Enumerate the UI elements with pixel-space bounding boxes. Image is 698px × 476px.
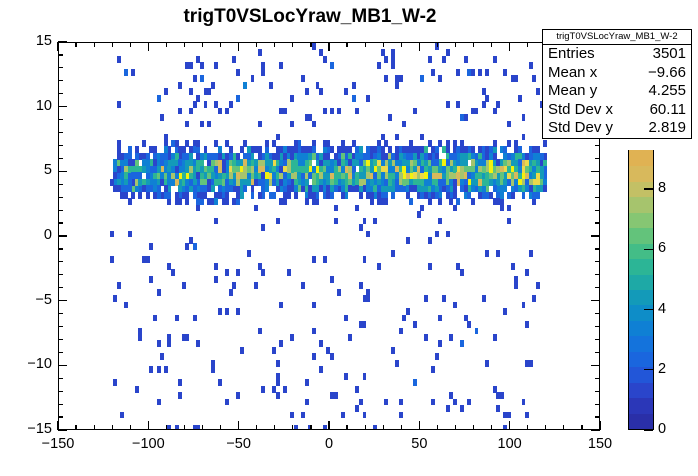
histogram-cell	[334, 218, 338, 225]
palette-band	[629, 165, 653, 182]
histogram-cell	[157, 340, 161, 347]
palette-band	[629, 289, 653, 306]
histogram-cell	[290, 95, 294, 102]
histogram-cell	[189, 166, 193, 173]
stats-box-title: trigT0VSLocYraw_MB1_W-2	[543, 30, 691, 45]
y-axis-major-tick	[58, 300, 67, 301]
histogram-cell	[247, 153, 251, 160]
histogram-cell	[138, 334, 142, 341]
histogram-cell	[146, 166, 150, 173]
y-axis-right-tick	[595, 197, 600, 198]
histogram-cell	[514, 282, 518, 289]
y-axis-major-tick	[58, 429, 67, 430]
x-axis-major-tick	[148, 421, 149, 430]
y-axis-minor-tick	[58, 378, 63, 379]
histogram-cell	[229, 101, 233, 108]
histogram-cell	[175, 192, 179, 199]
histogram-cell	[301, 166, 305, 173]
histogram-cell	[261, 386, 265, 393]
histogram-cell	[334, 153, 338, 160]
histogram-cell	[438, 179, 442, 186]
histogram-cell	[120, 172, 124, 179]
y-axis-minor-tick	[58, 313, 63, 314]
stats-rows: Entries3501Mean x−9.66Mean y4.255Std Dev…	[543, 45, 691, 138]
histogram-cell	[475, 153, 479, 160]
histogram-cell	[312, 146, 316, 153]
histogram-cell	[355, 159, 359, 166]
histogram-cell	[507, 412, 511, 419]
histogram-cell	[503, 153, 507, 160]
x-axis-top-tick	[401, 42, 402, 47]
histogram-cell	[446, 101, 450, 108]
plot-frame	[58, 42, 600, 430]
histogram-cell	[438, 218, 442, 225]
histogram-cell	[149, 276, 153, 283]
histogram-cell	[153, 166, 157, 173]
histogram-cell	[323, 140, 327, 147]
histogram-cell	[196, 425, 200, 429]
histogram-cell	[128, 185, 132, 192]
histogram-cell	[352, 95, 356, 102]
histogram-cell	[290, 166, 294, 173]
histogram-cell	[391, 250, 395, 257]
histogram-cell	[157, 366, 161, 373]
histogram-cell	[276, 218, 280, 225]
y-axis-minor-tick	[58, 391, 63, 392]
histogram-cell	[431, 399, 435, 406]
histogram-cell	[543, 153, 547, 160]
histogram-cell	[475, 328, 479, 335]
histogram-cell	[395, 75, 399, 82]
histogram-cell	[518, 146, 522, 153]
palette-band	[629, 243, 653, 260]
histogram-cell	[330, 353, 334, 360]
histogram-cell	[160, 192, 164, 199]
histogram-cell	[366, 95, 370, 102]
histogram-cell	[265, 185, 269, 192]
histogram-cell	[287, 166, 291, 173]
histogram-cell	[522, 114, 526, 121]
x-axis-minor-tick	[383, 425, 384, 430]
histogram-cell	[175, 198, 179, 205]
histogram-cell	[485, 69, 489, 76]
histogram-cell	[456, 172, 460, 179]
histogram-cell	[200, 121, 204, 128]
histogram-cell	[500, 392, 504, 399]
histogram-cell	[540, 166, 544, 173]
root-canvas: trigT0VSLocYraw_MB1_W-2 −150−100−5005010…	[0, 0, 698, 476]
y-axis-right-tick	[591, 235, 600, 236]
histogram-cell	[485, 95, 489, 102]
histogram-cell	[193, 425, 197, 429]
stats-row: Std Dev x60.11	[543, 101, 691, 120]
histogram-cell	[402, 179, 406, 186]
histogram-cell	[146, 256, 150, 263]
histogram-cell	[399, 75, 403, 82]
histogram-cell	[482, 101, 486, 108]
histogram-cell	[532, 153, 536, 160]
histogram-cell	[138, 172, 142, 179]
histogram-cell	[319, 49, 323, 56]
histogram-cell	[283, 192, 287, 199]
x-axis-top-tick	[274, 42, 275, 47]
histogram-cell	[395, 153, 399, 160]
histogram-cell	[384, 56, 388, 63]
histogram-cell	[420, 134, 424, 141]
y-axis-tick-label: −15	[12, 421, 52, 437]
histogram-cell	[464, 153, 468, 160]
y-axis-right-tick	[595, 391, 600, 392]
histogram-cell	[178, 392, 182, 399]
histogram-cell	[272, 179, 276, 186]
histogram-cell	[225, 192, 229, 199]
histogram-cell	[164, 185, 168, 192]
x-axis-top-tick	[328, 42, 329, 51]
histogram-cell	[305, 399, 309, 406]
histogram-cell	[543, 185, 547, 192]
histogram-cell	[207, 159, 211, 166]
histogram-cell	[261, 192, 265, 199]
histogram-cell	[446, 185, 450, 192]
histogram-cell	[120, 153, 124, 160]
x-axis-tick-label: −150	[28, 436, 88, 452]
histogram-cell	[395, 82, 399, 89]
histogram-cell	[149, 243, 153, 250]
histogram-cell	[485, 146, 489, 153]
histogram-cell	[370, 166, 374, 173]
y-axis-minor-tick	[58, 326, 63, 327]
histogram-cell	[442, 295, 446, 302]
histogram-cell	[251, 75, 255, 82]
histogram-cell	[529, 250, 533, 257]
histogram-cell	[522, 153, 526, 160]
histogram-cell	[428, 237, 432, 244]
y-axis-right-tick	[595, 352, 600, 353]
histogram-cell	[482, 179, 486, 186]
y-axis-minor-tick	[58, 248, 63, 249]
histogram-cell	[518, 159, 522, 166]
histogram-cell	[272, 347, 276, 354]
histogram-cell	[236, 308, 240, 315]
histogram-cell	[363, 185, 367, 192]
histogram-cell	[283, 198, 287, 205]
histogram-cell	[128, 159, 132, 166]
histogram-cell	[522, 302, 526, 309]
histogram-cell	[355, 405, 359, 412]
histogram-cell	[363, 373, 367, 380]
palette-tick-label: 6	[658, 240, 666, 256]
histogram-cell	[493, 185, 497, 192]
histogram-cell	[355, 153, 359, 160]
histogram-cell	[359, 224, 363, 231]
histogram-cell	[370, 179, 374, 186]
histogram-cell	[442, 166, 446, 173]
histogram-cell	[305, 146, 309, 153]
histogram-cell	[319, 340, 323, 347]
histogram-cell	[232, 179, 236, 186]
histogram-cell	[456, 69, 460, 76]
histogram-cell	[316, 153, 320, 160]
palette-band	[629, 258, 653, 275]
stats-row-value: 3501	[653, 45, 686, 64]
histogram-cell	[532, 75, 536, 82]
histogram-cell	[446, 159, 450, 166]
x-axis-top-tick	[509, 42, 510, 51]
histogram-cell	[128, 198, 132, 205]
histogram-cell	[363, 218, 367, 225]
histogram-cell	[514, 185, 518, 192]
histogram-cell	[435, 159, 439, 166]
histogram-cell	[308, 185, 312, 192]
histogram-cell	[232, 282, 236, 289]
histogram-cell	[178, 82, 182, 89]
histogram-cell	[214, 218, 218, 225]
histogram-cell	[514, 276, 518, 283]
histogram-cell	[211, 185, 215, 192]
histogram-cell	[391, 62, 395, 69]
histogram-cell	[316, 159, 320, 166]
histogram-cell	[493, 334, 497, 341]
histogram-cell	[406, 172, 410, 179]
histogram-cell	[384, 198, 388, 205]
histogram-cells	[59, 43, 599, 429]
histogram-cell	[229, 185, 233, 192]
histogram-cell	[182, 282, 186, 289]
histogram-cell	[503, 69, 507, 76]
histogram-cell	[373, 146, 377, 153]
histogram-cell	[453, 205, 457, 212]
histogram-cell	[258, 146, 262, 153]
stats-row-key: Mean x	[548, 64, 597, 83]
histogram-cell	[153, 146, 157, 153]
palette-tick-label: 2	[658, 361, 666, 377]
histogram-cell	[167, 192, 171, 199]
x-axis-minor-tick	[346, 425, 347, 430]
histogram-cell	[117, 185, 121, 192]
palette-tick	[644, 249, 653, 250]
histogram-cell	[464, 159, 468, 166]
x-axis-top-tick	[491, 42, 492, 47]
histogram-cell	[290, 334, 294, 341]
x-axis-minor-tick	[473, 425, 474, 430]
histogram-cell	[167, 185, 171, 192]
histogram-cell	[406, 166, 410, 173]
histogram-cell	[243, 185, 247, 192]
x-axis-top-tick	[455, 42, 456, 47]
histogram-cell	[218, 308, 222, 315]
histogram-cell	[261, 179, 265, 186]
histogram-cell	[319, 185, 323, 192]
histogram-cell	[522, 192, 526, 199]
histogram-cell	[323, 256, 327, 263]
histogram-cell	[225, 399, 229, 406]
x-axis-minor-tick	[292, 425, 293, 430]
histogram-cell	[366, 179, 370, 186]
histogram-cell	[171, 269, 175, 276]
histogram-cell	[337, 289, 341, 296]
y-axis-right-tick	[595, 158, 600, 159]
x-axis-minor-tick	[256, 425, 257, 430]
histogram-cell	[323, 153, 327, 160]
histogram-cell	[540, 153, 544, 160]
histogram-cell	[290, 412, 294, 419]
x-axis-top-tick	[527, 42, 528, 47]
histogram-cell	[258, 153, 262, 160]
y-axis-minor-tick	[58, 210, 63, 211]
y-axis-right-tick	[595, 222, 600, 223]
palette-band	[629, 320, 653, 337]
histogram-cell	[514, 140, 518, 147]
x-axis-top-tick	[112, 42, 113, 47]
histogram-cell	[366, 295, 370, 302]
histogram-cell	[355, 185, 359, 192]
histogram-cell	[211, 153, 215, 160]
histogram-cell	[355, 172, 359, 179]
histogram-cell	[149, 166, 153, 173]
histogram-cell	[330, 166, 334, 173]
histogram-cell	[316, 192, 320, 199]
histogram-cell	[261, 62, 265, 69]
histogram-cell	[312, 256, 316, 263]
histogram-cell	[261, 269, 265, 276]
histogram-cell	[446, 140, 450, 147]
histogram-cell	[435, 231, 439, 238]
histogram-cell	[428, 166, 432, 173]
histogram-cell	[467, 321, 471, 328]
histogram-cell	[496, 250, 500, 257]
y-axis-minor-tick	[58, 261, 63, 262]
histogram-cell	[185, 153, 189, 160]
histogram-cell	[529, 360, 533, 367]
histogram-cell	[446, 231, 450, 238]
histogram-cell	[131, 159, 135, 166]
histogram-cell	[124, 69, 128, 76]
histogram-cell	[334, 185, 338, 192]
histogram-cell	[417, 211, 421, 218]
histogram-cell	[442, 56, 446, 63]
histogram-cell	[272, 140, 276, 147]
histogram-cell	[160, 153, 164, 160]
y-axis-right-tick	[595, 378, 600, 379]
histogram-cell	[381, 198, 385, 205]
histogram-cell	[431, 69, 435, 76]
stats-row-value: 2.819	[648, 119, 686, 138]
histogram-cell	[117, 153, 121, 160]
x-axis-top-tick	[94, 42, 95, 47]
histogram-cell	[218, 108, 222, 115]
histogram-cell	[131, 192, 135, 199]
histogram-cell	[214, 62, 218, 69]
histogram-cell	[456, 101, 460, 108]
histogram-cell	[312, 166, 316, 173]
histogram-cell	[301, 282, 305, 289]
histogram-cell	[279, 340, 283, 347]
histogram-cell	[214, 166, 218, 173]
x-axis-minor-tick	[437, 425, 438, 430]
histogram-cell	[193, 185, 197, 192]
x-axis-tick-label: 150	[570, 436, 630, 452]
histogram-cell	[406, 153, 410, 160]
y-axis-right-tick	[591, 300, 600, 301]
histogram-cell	[279, 302, 283, 309]
histogram-cell	[200, 75, 204, 82]
y-axis-minor-tick	[58, 67, 63, 68]
histogram-cell	[189, 237, 193, 244]
histogram-cell	[175, 315, 179, 322]
histogram-cell	[189, 146, 193, 153]
histogram-cell	[167, 425, 171, 429]
histogram-cell	[355, 108, 359, 115]
histogram-cell	[460, 146, 464, 153]
palette-band	[629, 412, 653, 429]
histogram-cell	[377, 62, 381, 69]
histogram-cell	[276, 392, 280, 399]
histogram-cell	[236, 69, 240, 76]
histogram-cell	[229, 146, 233, 153]
y-axis-minor-tick	[58, 222, 63, 223]
histogram-cell	[424, 192, 428, 199]
histogram-cell	[193, 315, 197, 322]
histogram-cell	[312, 328, 316, 335]
x-axis-minor-tick	[166, 425, 167, 430]
histogram-cell	[373, 218, 377, 225]
histogram-cell	[207, 198, 211, 205]
histogram-cell	[283, 153, 287, 160]
histogram-cell	[294, 192, 298, 199]
histogram-cell	[334, 392, 338, 399]
histogram-cell	[409, 198, 413, 205]
stats-row: Mean y4.255	[543, 82, 691, 101]
histogram-cell	[384, 140, 388, 147]
histogram-cell	[366, 231, 370, 238]
histogram-cell	[406, 308, 410, 315]
y-axis-minor-tick	[58, 287, 63, 288]
palette-band	[629, 335, 653, 352]
histogram-cell	[225, 159, 229, 166]
histogram-cell	[391, 347, 395, 354]
histogram-cell	[149, 366, 153, 373]
histogram-cell	[399, 412, 403, 419]
histogram-cell	[146, 185, 150, 192]
y-axis-minor-tick	[58, 404, 63, 405]
histogram-cell	[196, 95, 200, 102]
x-axis-minor-tick	[401, 425, 402, 430]
histogram-cell	[178, 166, 182, 173]
histogram-cell	[316, 82, 320, 89]
x-axis-tick-label: −100	[118, 436, 178, 452]
histogram-cell	[153, 315, 157, 322]
histogram-cell	[189, 108, 193, 115]
histogram-cell	[453, 192, 457, 199]
histogram-cell	[312, 43, 316, 50]
x-axis-minor-tick	[75, 425, 76, 430]
histogram-cell	[500, 205, 504, 212]
x-axis-top-tick	[310, 42, 311, 47]
y-axis-major-tick	[58, 106, 67, 107]
histogram-cell	[485, 172, 489, 179]
histogram-cell	[146, 172, 150, 179]
x-axis-minor-tick	[563, 425, 564, 430]
histogram-cell	[218, 192, 222, 199]
y-axis-minor-tick	[58, 145, 63, 146]
histogram-cell	[272, 386, 276, 393]
histogram-cell	[326, 192, 330, 199]
stats-row-key: Mean y	[548, 82, 597, 101]
histogram-cell	[536, 192, 540, 199]
palette-band	[629, 196, 653, 213]
histogram-cell	[323, 108, 327, 115]
x-axis-minor-tick	[112, 425, 113, 430]
